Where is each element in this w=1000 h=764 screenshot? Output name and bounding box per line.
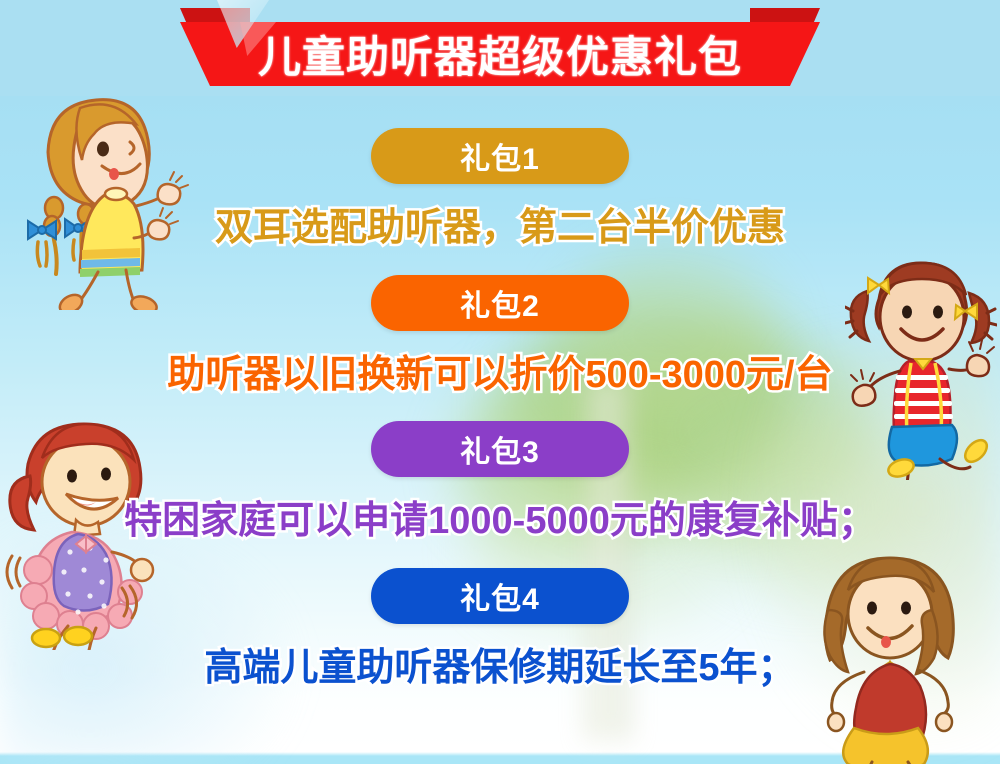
gift-block-2: 礼包2 助听器以旧换新可以折价500-3000元/台 xyxy=(0,275,1000,398)
page-title: 儿童助听器超级优惠礼包 xyxy=(180,22,820,86)
gift-text-2: 助听器以旧换新可以折价500-3000元/台 xyxy=(0,343,1000,398)
gift-badge-4[interactable]: 礼包4 xyxy=(371,568,629,624)
title-ribbon: 儿童助听器超级优惠礼包 xyxy=(180,0,820,90)
gift-badge-2[interactable]: 礼包2 xyxy=(371,275,629,331)
gift-text-1: 双耳选配助听器，第二台半价优惠 xyxy=(0,196,1000,251)
gift-text-4: 高端儿童助听器保修期延长至5年； xyxy=(0,636,1000,691)
gift-block-3: 礼包3 特困家庭可以申请1000-5000元的康复补贴； xyxy=(0,421,1000,544)
gift-badge-1[interactable]: 礼包1 xyxy=(371,128,629,184)
gift-text-3: 特困家庭可以申请1000-5000元的康复补贴； xyxy=(0,489,1000,544)
gift-block-4: 礼包4 高端儿童助听器保修期延长至5年； xyxy=(0,568,1000,691)
poster-canvas: 儿童助听器超级优惠礼包 礼包1 双耳选配助听器，第二台半价优惠 礼包2 助听器以… xyxy=(0,0,1000,764)
character-girl-bob-shoes xyxy=(810,745,1000,764)
gift-block-1: 礼包1 双耳选配助听器，第二台半价优惠 xyxy=(0,128,1000,251)
gift-badge-3[interactable]: 礼包3 xyxy=(371,421,629,477)
